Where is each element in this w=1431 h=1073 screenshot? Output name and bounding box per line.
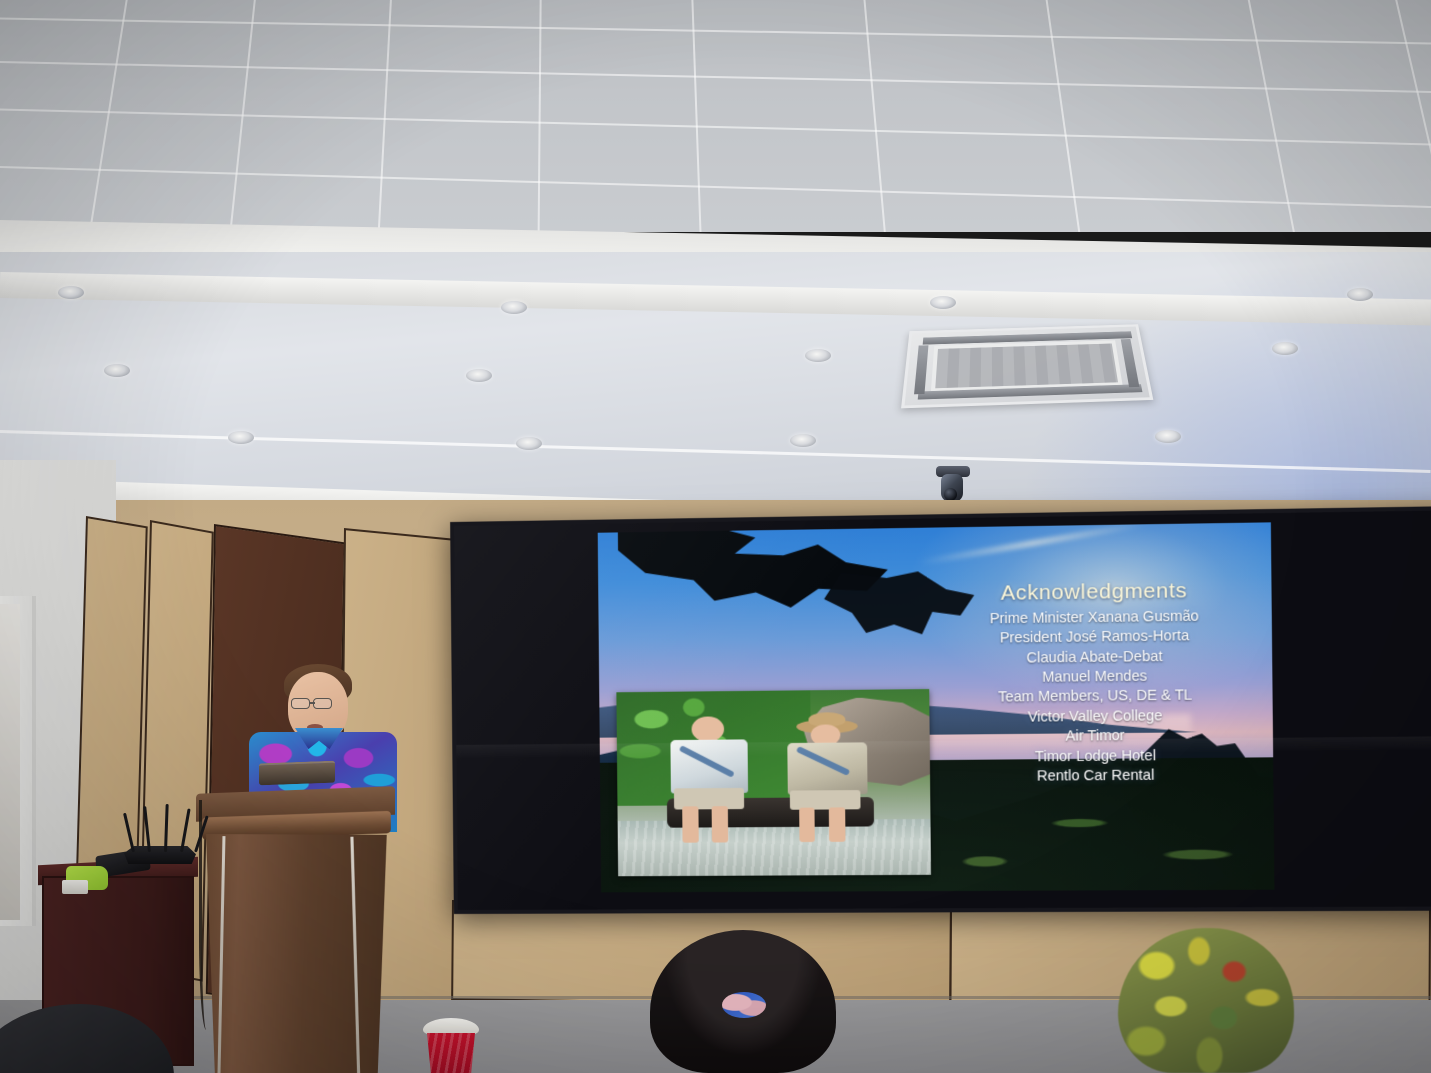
recessed-downlight: [930, 296, 956, 309]
photo-person-right: [779, 712, 887, 842]
recessed-downlight: [1155, 430, 1181, 443]
recessed-downlight: [228, 431, 254, 444]
lectern-body: [206, 834, 387, 1073]
recessed-downlight: [790, 434, 816, 447]
inset-photo: [616, 689, 931, 876]
ac-vane: [1121, 339, 1140, 387]
recessed-downlight: [466, 369, 492, 382]
recessed-downlight: [501, 301, 527, 314]
ceiling-tile-grid: [0, 0, 1431, 232]
recessed-downlight: [58, 286, 84, 299]
recessed-downlight: [516, 437, 542, 450]
glasses-bridge: [310, 702, 315, 704]
glasses-icon: [291, 698, 310, 709]
recessed-downlight: [104, 364, 130, 377]
ack-line: Rentlo Car Rental: [933, 766, 1260, 788]
recessed-downlight: [805, 349, 831, 362]
audience-center: [650, 930, 836, 1073]
lectern-laptop: [259, 761, 335, 786]
acknowledgments-block: Acknowledgments Prime Minister Xanana Gu…: [931, 578, 1259, 788]
presentation-slide: Acknowledgments Prime Minister Xanana Gu…: [598, 522, 1275, 892]
lectern: [196, 790, 395, 1073]
ceiling-air-conditioner-icon: [901, 324, 1153, 408]
photo-person-left: [660, 713, 767, 843]
conference-room-photo: Acknowledgments Prime Minister Xanana Gu…: [0, 0, 1431, 1073]
projection-screen[interactable]: Acknowledgments Prime Minister Xanana Gu…: [450, 506, 1431, 914]
hair-scrunchie: [722, 992, 766, 1018]
recessed-downlight: [1272, 342, 1298, 355]
glasses-icon: [313, 698, 332, 709]
ac-grille: [931, 340, 1123, 392]
recessed-downlight: [1347, 288, 1373, 301]
cup-lid: [423, 1018, 479, 1035]
slide-title: Acknowledgments: [931, 578, 1258, 607]
ac-vane: [914, 345, 928, 394]
white-box: [62, 880, 88, 894]
wireless-router-icon: [124, 846, 196, 864]
cup-body: [427, 1033, 475, 1073]
coffee-cup: [423, 1018, 479, 1073]
doorway: [0, 604, 20, 920]
